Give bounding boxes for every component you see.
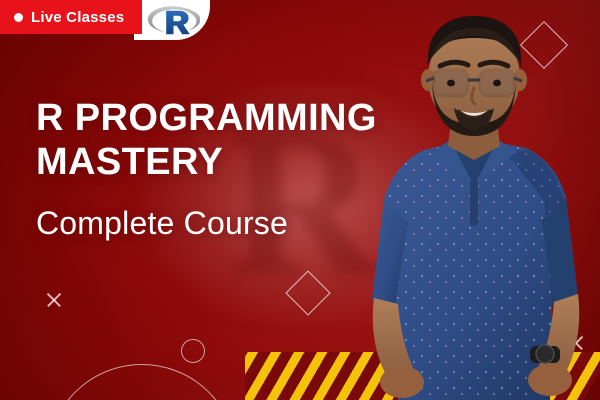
title-line-2: MASTERY <box>36 141 223 183</box>
course-banner: R Live Classes <box>0 0 600 400</box>
live-classes-label: Live Classes <box>31 9 124 26</box>
r-language-logo-icon <box>144 3 200 37</box>
headline-block: R PROGRAMMING MASTERY Complete Course <box>36 96 416 242</box>
live-classes-badge[interactable]: Live Classes <box>0 0 142 34</box>
page-title: R PROGRAMMING MASTERY <box>36 96 416 184</box>
live-dot-icon <box>14 13 23 22</box>
r-logo-chip <box>134 0 210 40</box>
page-subtitle: Complete Course <box>36 204 416 242</box>
title-line-1: R PROGRAMMING <box>36 97 377 139</box>
